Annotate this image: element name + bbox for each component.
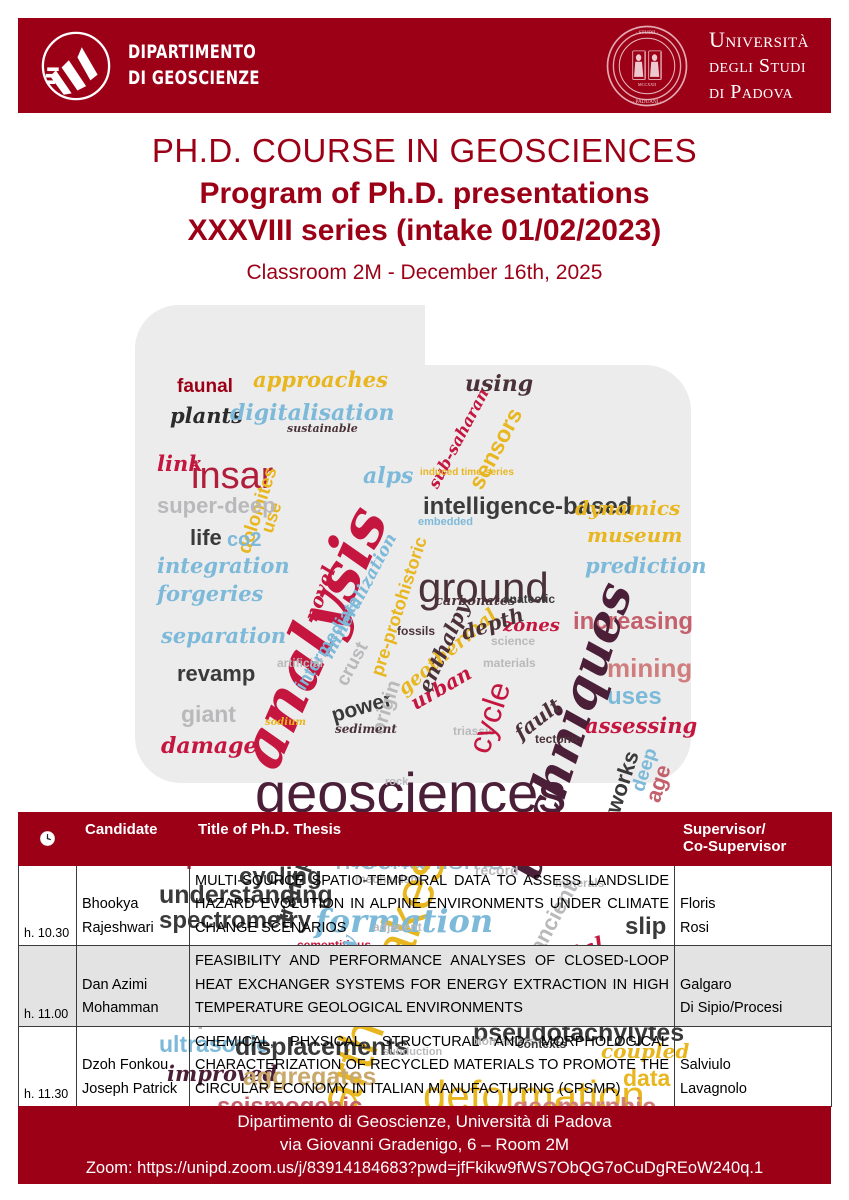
university-line2: degli Studi bbox=[709, 54, 809, 80]
svg-text:· PADUANI ·: · PADUANI · bbox=[632, 98, 661, 104]
svg-text:· STUDII ·: · STUDII · bbox=[635, 30, 658, 36]
cell-supervisor: FlorisRosi bbox=[675, 866, 832, 946]
venue-date: Classroom 2M - December 16th, 2025 bbox=[0, 261, 849, 285]
mountain-circle-logo-icon bbox=[40, 30, 112, 102]
word-cloud-term: faunal bbox=[177, 377, 233, 396]
header-banner: DIPARTIMENTO DI GEOSCIENZE · STUDII · · … bbox=[18, 18, 831, 113]
subtitle-line-2: XXXVIII series (intake 01/02/2023) bbox=[0, 213, 849, 250]
table-row: h. 11.30Dzoh FonkouJoseph PatrickCHEMICA… bbox=[19, 1026, 832, 1106]
word-cloud-term: life bbox=[190, 527, 222, 549]
column-header-candidate: Candidate bbox=[77, 813, 190, 866]
word-cloud-term: fossils bbox=[397, 625, 435, 637]
word-cloud-term: materials bbox=[483, 657, 536, 669]
word-cloud-term: rock bbox=[385, 777, 408, 788]
clock-icon bbox=[39, 830, 56, 847]
page-title: PH.D. COURSE IN GEOSCIENCES bbox=[0, 132, 849, 170]
word-cloud: faunalapproachesusingplantsdigitalisatio… bbox=[135, 305, 691, 783]
word-cloud-term: alps bbox=[363, 465, 413, 487]
unipd-seal-icon: · STUDII · · PADUANI · MCCXXII bbox=[605, 24, 689, 108]
university-line3: di Padova bbox=[709, 80, 809, 106]
word-cloud-term: sediment bbox=[335, 723, 397, 735]
cell-supervisor: GalgaroDi Sipio/Procesi bbox=[675, 946, 832, 1026]
table-header-row: Candidate Title of Ph.D. Thesis Supervis… bbox=[19, 813, 832, 866]
cell-thesis-title: CHEMICAL, PHYSICAL, STRUCTURAL AND MORPH… bbox=[190, 1026, 675, 1106]
cell-time: h. 11.30 bbox=[19, 1026, 77, 1106]
word-cloud-term: co2 bbox=[227, 530, 261, 550]
word-cloud-term: artificial bbox=[277, 657, 323, 669]
word-cloud-term: separation bbox=[161, 625, 286, 646]
word-cloud-term: digitalisation bbox=[230, 402, 394, 424]
svg-text:MCCXXII: MCCXXII bbox=[638, 82, 657, 87]
word-cloud-term: dynamics bbox=[575, 498, 680, 518]
cell-candidate: BhookyaRajeshwari bbox=[77, 866, 190, 946]
table-row: h. 10.30BhookyaRajeshwariMULTI-SOURCE SP… bbox=[19, 866, 832, 946]
subtitle-line-1: Program of Ph.D. presentations bbox=[0, 176, 849, 213]
word-cloud-term: sodium bbox=[265, 718, 306, 728]
university-logo: · STUDII · · PADUANI · MCCXXII Universit… bbox=[605, 24, 809, 108]
table-row: h. 11.00Dan AzimiMohammanFEASIBILITY AND… bbox=[19, 946, 832, 1026]
column-header-supervisor: Supervisor/ Co-Supervisor bbox=[675, 813, 832, 866]
word-cloud-term: integration bbox=[157, 555, 290, 576]
word-cloud-term: assessing bbox=[585, 715, 697, 736]
cell-thesis-title: MULTI-SOURCE SPATIO-TEMPORAL DATA TO ASS… bbox=[190, 866, 675, 946]
footer-address: via Giovanni Gradenigo, 6 – Room 2M bbox=[280, 1134, 569, 1157]
word-cloud-term: damage bbox=[161, 735, 258, 757]
university-line1: Università bbox=[709, 26, 809, 54]
word-cloud-term: revamp bbox=[177, 663, 255, 685]
cell-candidate: Dan AzimiMohamman bbox=[77, 946, 190, 1026]
cell-candidate: Dzoh FonkouJoseph Patrick bbox=[77, 1026, 190, 1106]
footer-zoom-link[interactable]: Zoom: https://unipd.zoom.us/j/8391418468… bbox=[86, 1157, 763, 1179]
word-cloud-term: anatectic bbox=[503, 593, 555, 605]
cell-time: h. 10.30 bbox=[19, 866, 77, 946]
table-body: h. 10.30BhookyaRajeshwariMULTI-SOURCE SP… bbox=[19, 866, 832, 1107]
word-cloud-term: prediction bbox=[585, 555, 707, 576]
word-cloud-term: forgeries bbox=[157, 583, 263, 604]
word-cloud-term: embedded bbox=[418, 517, 473, 528]
word-cloud-term: induced time-series bbox=[420, 468, 514, 478]
footer-banner: Dipartimento di Geoscienze, Università d… bbox=[18, 1106, 831, 1184]
column-header-time bbox=[19, 813, 77, 866]
cell-supervisor: SalviuloLavagnolo bbox=[675, 1026, 832, 1106]
word-cloud-term: tectonic bbox=[535, 733, 581, 745]
poster-titles: PH.D. COURSE IN GEOSCIENCES Program of P… bbox=[0, 132, 849, 285]
department-logo-line2: DI GEOSCIENZE bbox=[128, 66, 260, 91]
department-logo: DIPARTIMENTO DI GEOSCIENZE bbox=[40, 30, 281, 102]
word-cloud-term: uses bbox=[607, 685, 662, 709]
schedule-table: Candidate Title of Ph.D. Thesis Supervis… bbox=[18, 812, 832, 1107]
word-cloud-term: science bbox=[491, 635, 535, 647]
word-cloud-term: museum bbox=[587, 525, 682, 545]
word-cloud-term: super-deep bbox=[157, 495, 276, 517]
university-logo-text: Università degli Studi di Padova bbox=[709, 26, 809, 105]
footer-institution: Dipartimento di Geoscienze, Università d… bbox=[237, 1111, 611, 1134]
column-header-supervisor-line1: Supervisor/ bbox=[683, 821, 823, 838]
word-cloud-term: giant bbox=[181, 703, 236, 726]
cell-time: h. 11.00 bbox=[19, 946, 77, 1026]
column-header-supervisor-line2: Co-Supervisor bbox=[683, 838, 823, 855]
department-logo-text: DIPARTIMENTO DI GEOSCIENZE bbox=[128, 40, 260, 90]
cell-thesis-title: FEASIBILITY AND PERFORMANCE ANALYSES OF … bbox=[190, 946, 675, 1026]
column-header-title: Title of Ph.D. Thesis bbox=[190, 813, 675, 866]
department-logo-line1: DIPARTIMENTO bbox=[128, 40, 260, 65]
word-cloud-term: approaches bbox=[253, 369, 388, 390]
word-cloud-term: sustainable bbox=[287, 423, 358, 434]
